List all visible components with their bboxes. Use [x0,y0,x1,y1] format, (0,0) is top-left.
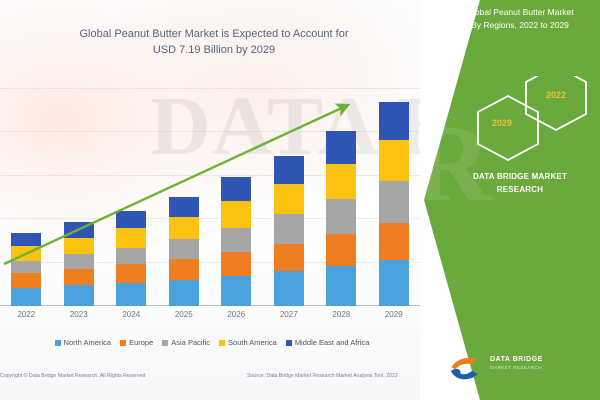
bar-segment [379,102,409,140]
footer-copyright: Copyright © Data Bridge Market Research.… [0,373,145,379]
bar-segment [11,246,41,261]
bar-segment [274,244,304,272]
stacked-bar [64,222,94,306]
bar-segment [326,164,356,199]
bar-segment [169,197,199,217]
x-axis-labels: 20222023202420252026202720282029 [0,310,420,324]
bar-segment [11,261,41,273]
stacked-bar [116,211,146,306]
hexagon-2022-label: 2022 [546,90,566,100]
bar-segment [116,283,146,306]
bar-segment [379,260,409,306]
legend-swatch-icon [286,340,292,346]
bar-segment [64,285,94,306]
bar-segment [379,140,409,182]
x-axis-tick: 2025 [164,310,204,319]
panel-title-line1: Global Peanut Butter Market [440,6,600,19]
green-side-panel: R Global Peanut Butter Market By Regions… [420,0,600,400]
legend-item[interactable]: North America [55,338,112,347]
bar-segment [64,222,94,237]
bar-segment [326,266,356,306]
bar-segment [221,228,251,253]
legend-swatch-icon [55,340,61,346]
bar-segment [379,223,409,260]
plot-area [0,88,420,306]
panel-brand: DATA BRIDGE MARKET RESEARCH [440,170,600,196]
x-axis-tick: 2026 [216,310,256,319]
logo-tagline: MARKET RESEARCH [490,365,542,371]
bar-segment [326,131,356,163]
x-axis-tick: 2028 [321,310,361,319]
bar-segment [274,214,304,244]
legend-label: North America [64,338,112,347]
bar-segment [11,233,41,246]
logo-name: DATA BRIDGE [490,356,543,364]
bar-segment [274,184,304,214]
legend-swatch-icon [162,340,168,346]
bar-segment [64,238,94,255]
bar-segment [221,177,251,201]
hexagon-2029-label: 2029 [492,118,512,128]
hexagon-2029 [478,96,538,160]
legend-label: South America [228,338,277,347]
bar-segment [221,201,251,227]
bar-segment [116,211,146,229]
panel-brand-line1: DATA BRIDGE MARKET [440,170,600,183]
gridline [0,175,420,176]
gridline [0,88,420,89]
legend-item[interactable]: Middle East and Africa [286,338,370,347]
bar-segment [116,248,146,265]
hexagon-shapes [456,76,600,168]
bar-segment [116,264,146,282]
bar-segment [64,269,94,285]
panel-title-line2: By Regions, 2022 to 2029 [440,19,600,32]
stacked-bar [221,177,251,306]
bar-segment [11,288,41,306]
hexagon-group: 2029 2022 [456,76,600,168]
page-title-line2: USD 7.19 Billion by 2029 [8,42,420,58]
data-bridge-logo: DATA BRIDGE MARKET RESEARCH [448,352,598,386]
stacked-bar [379,102,409,306]
footer-source: Source: Data Bridge Market Research Mark… [247,373,398,379]
bar-segment [274,156,304,184]
bar-segment [169,239,199,259]
bar-segment [169,259,199,280]
panel-title: Global Peanut Butter Market By Regions, … [440,6,600,32]
legend-item[interactable]: Asia Pacific [162,338,210,347]
legend-item[interactable]: Europe [120,338,153,347]
bar-segment [11,273,41,288]
x-axis-tick: 2023 [59,310,99,319]
gridline [0,131,420,132]
chart-legend: North AmericaEuropeAsia PacificSouth Ame… [0,338,424,347]
hexagon-2022 [526,76,586,130]
x-axis-tick: 2029 [374,310,414,319]
stacked-bar [169,197,199,306]
bar-segment [169,280,199,306]
bar-segment [64,254,94,269]
stacked-bar [11,233,41,306]
bar-segment [379,181,409,223]
legend-label: Middle East and Africa [295,338,370,347]
bar-segment [116,228,146,247]
page-title: Global Peanut Butter Market is Expected … [8,26,420,58]
bar-segment [221,276,251,306]
stacked-bar [326,131,356,306]
stacked-bar [274,156,304,306]
legend-swatch-icon [219,340,225,346]
panel-wedge-shape [420,0,480,400]
panel-brand-line2: RESEARCH [440,183,600,196]
x-axis-tick: 2022 [6,310,46,319]
bar-segment [221,252,251,276]
x-axis-tick: 2027 [269,310,309,319]
bar-segment [326,234,356,266]
gridline [0,218,420,219]
legend-swatch-icon [120,340,126,346]
bar-segment [326,199,356,234]
logo-mark-icon [448,354,484,382]
bar-segment [274,271,304,306]
legend-label: Europe [129,338,153,347]
legend-item[interactable]: South America [219,338,277,347]
legend-label: Asia Pacific [171,338,210,347]
chart-infographic: DATA BRI Global Peanut Butter Market is … [0,0,600,400]
x-axis-tick: 2024 [111,310,151,319]
page-title-line1: Global Peanut Butter Market is Expected … [8,26,420,42]
bar-segment [169,217,199,239]
